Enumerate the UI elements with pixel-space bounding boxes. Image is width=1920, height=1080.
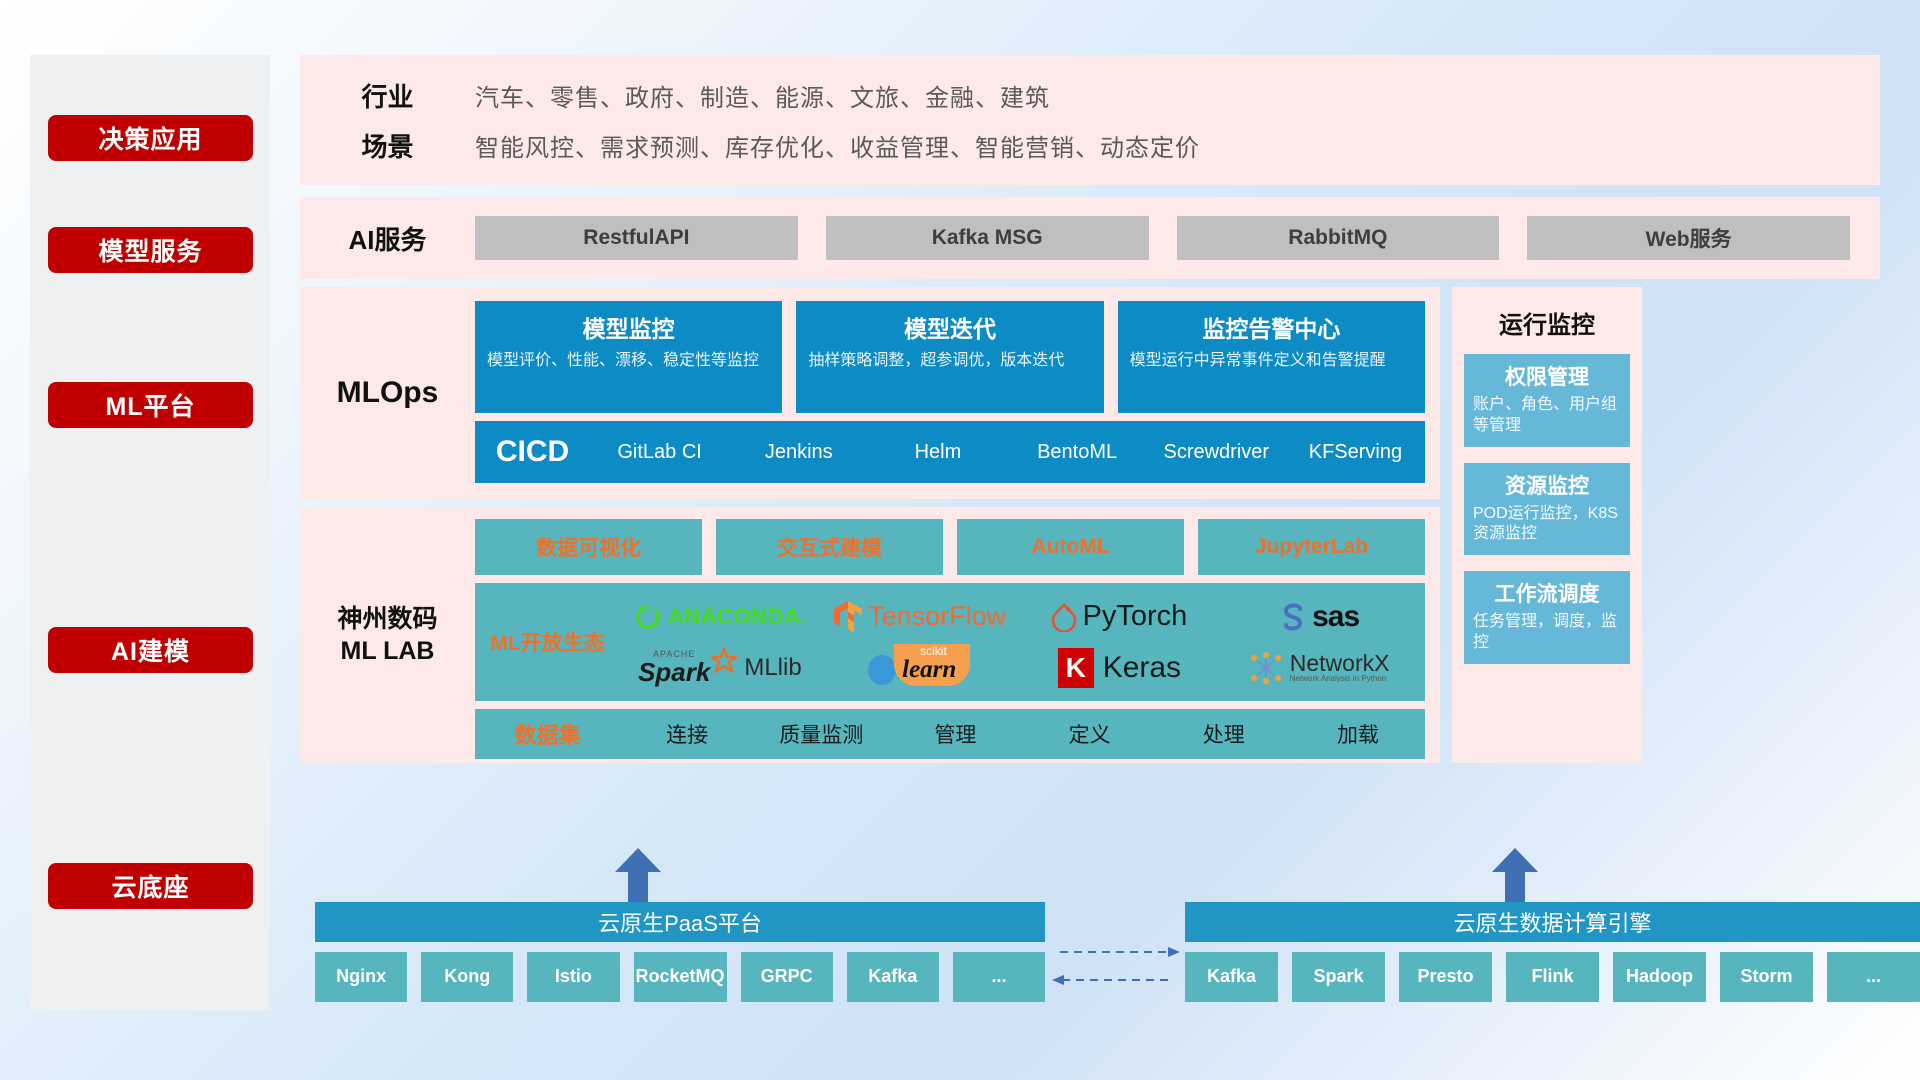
cloud-paas-chip-list: Nginx Kong Istio RocketMQ GRPC Kafka ... bbox=[315, 952, 1045, 1002]
runtime-monitoring-panel: 运行监控 权限管理 账户、角色、用户组等管理 资源监控 POD运行监控，K8S资… bbox=[1452, 287, 1642, 763]
mlops-card-desc: 模型评价、性能、漂移、稳定性等监控 bbox=[487, 350, 770, 372]
ml-lab-tool-interactive-modeling[interactable]: 交互式建模 bbox=[716, 519, 943, 575]
keras-k-letter: K bbox=[1066, 652, 1086, 684]
spark-mllib-logo: APACHE Spark MLlib bbox=[638, 650, 802, 685]
cloud-data-engine-chip-list: Kafka Spark Presto Flink Hadoop Storm ..… bbox=[1185, 952, 1920, 1002]
ml-lab-label-line1: 神州数码 bbox=[337, 603, 437, 636]
scikit-learn-logo: scikit learn bbox=[865, 642, 974, 693]
dataset-label: 数据集 bbox=[475, 718, 620, 750]
rail-chip-cloud-base[interactable]: 云底座 bbox=[48, 863, 253, 909]
bidirectional-dashed-connector-icon bbox=[1052, 942, 1180, 990]
cicd-item-kfserving[interactable]: KFServing bbox=[1286, 442, 1425, 463]
tensorflow-logo: TensorFlow bbox=[833, 600, 1006, 634]
spark-star-icon bbox=[711, 648, 737, 674]
ai-service-band: AI服务 RestfulAPI Kafka MSG RabbitMQ Web服务 bbox=[300, 197, 1880, 279]
dataset-item-quality[interactable]: 质量监测 bbox=[754, 719, 888, 749]
cloud-chip-more-left[interactable]: ... bbox=[953, 952, 1045, 1002]
up-arrow-icon-data-engine bbox=[1492, 848, 1538, 902]
mlops-card-model-monitoring[interactable]: 模型监控 模型评价、性能、漂移、稳定性等监控 bbox=[475, 301, 782, 413]
ops-card-resource-monitoring[interactable]: 资源监控 POD运行监控，K8S资源监控 bbox=[1464, 463, 1630, 556]
ml-open-ecosystem: ML开放生态 ANACONDA. bbox=[475, 583, 1425, 701]
ml-open-ecosystem-logos: ANACONDA. TensorFlow bbox=[620, 591, 1425, 693]
mlops-card-model-iteration[interactable]: 模型迭代 抽样策略调整，超参调优，版本迭代 bbox=[796, 301, 1103, 413]
cloud-paas-header: 云原生PaaS平台 bbox=[315, 902, 1045, 942]
dataset-item-process[interactable]: 处理 bbox=[1157, 719, 1291, 749]
ml-lab-label: 神州数码 ML LAB bbox=[300, 507, 475, 763]
sas-wordmark: sas bbox=[1312, 600, 1359, 634]
scenario-label: 场景 bbox=[300, 127, 475, 164]
tensorflow-wordmark: TensorFlow bbox=[868, 601, 1006, 632]
up-arrow-icon-paas bbox=[615, 848, 661, 902]
mlops-card-title: 模型迭代 bbox=[808, 310, 1091, 344]
ml-lab-tool-automl[interactable]: AutoML bbox=[957, 519, 1184, 575]
ops-card-workflow-scheduling[interactable]: 工作流调度 任务管理，调度，监控 bbox=[1464, 571, 1630, 664]
cloud-chip-spark[interactable]: Spark bbox=[1292, 952, 1385, 1002]
architecture-diagram: 决策应用 模型服务 ML平台 AI建模 云底座 行业 汽车、零售、政府、制造、能… bbox=[0, 0, 1920, 1080]
mlops-card-alert-center[interactable]: 监控告警中心 模型运行中异常事件定义和告警提醒 bbox=[1118, 301, 1425, 413]
mlops-card-title: 监控告警中心 bbox=[1130, 310, 1413, 344]
rail-chip-ml-platform[interactable]: ML平台 bbox=[48, 382, 253, 428]
industry-row: 行业 汽车、零售、政府、制造、能源、文旅、金融、建筑 bbox=[300, 77, 1880, 114]
cicd-item-gitlab-ci[interactable]: GitLab CI bbox=[590, 442, 729, 463]
ops-card-desc: 任务管理，调度，监控 bbox=[1473, 612, 1621, 654]
cicd-item-helm[interactable]: Helm bbox=[868, 442, 1007, 463]
networkx-wordmark: NetworkX bbox=[1290, 651, 1390, 675]
cicd-item-jenkins[interactable]: Jenkins bbox=[729, 442, 868, 463]
pytorch-logo: PyTorch bbox=[1051, 600, 1187, 633]
cloud-chip-flink[interactable]: Flink bbox=[1506, 952, 1599, 1002]
scenario-row: 场景 智能风控、需求预测、库存优化、收益管理、智能营销、动态定价 bbox=[300, 127, 1880, 164]
pytorch-wordmark: PyTorch bbox=[1082, 600, 1187, 633]
cloud-chip-storm[interactable]: Storm bbox=[1720, 952, 1813, 1002]
dataset-item-load[interactable]: 加载 bbox=[1291, 719, 1425, 749]
main-stack: 行业 汽车、零售、政府、制造、能源、文旅、金融、建筑 场景 智能风控、需求预测、… bbox=[300, 55, 1880, 1010]
scenario-values: 智能风控、需求预测、库存优化、收益管理、智能营销、动态定价 bbox=[475, 128, 1200, 163]
cloud-chip-kong[interactable]: Kong bbox=[421, 952, 513, 1002]
cicd-item-bentoml[interactable]: BentoML bbox=[1008, 442, 1147, 463]
ops-card-title: 资源监控 bbox=[1473, 470, 1621, 500]
learn-word: learn bbox=[902, 656, 956, 684]
keras-mark-icon: K bbox=[1058, 648, 1094, 688]
decision-application-band: 行业 汽车、零售、政府、制造、能源、文旅、金融、建筑 场景 智能风控、需求预测、… bbox=[300, 55, 1880, 185]
cicd-item-screwdriver[interactable]: Screwdriver bbox=[1147, 442, 1286, 463]
rail-chip-ai-modeling[interactable]: AI建模 bbox=[48, 627, 253, 673]
cloud-chip-hadoop[interactable]: Hadoop bbox=[1613, 952, 1706, 1002]
ai-service-rabbitmq[interactable]: RabbitMQ bbox=[1177, 216, 1500, 260]
keras-wordmark: Keras bbox=[1103, 651, 1181, 685]
cloud-chip-rocketmq[interactable]: RocketMQ bbox=[634, 952, 727, 1002]
keras-logo: K Keras bbox=[1058, 648, 1181, 688]
networkx-mark-icon bbox=[1249, 652, 1283, 684]
cloud-chip-nginx[interactable]: Nginx bbox=[315, 952, 407, 1002]
mlops-card-desc: 抽样策略调整，超参调优，版本迭代 bbox=[808, 350, 1091, 372]
networkx-tagline: Network Analysis in Python bbox=[1290, 675, 1390, 683]
cloud-chip-kafka-right[interactable]: Kafka bbox=[1185, 952, 1278, 1002]
cloud-chip-kafka[interactable]: Kafka bbox=[847, 952, 939, 1002]
sas-mark-icon bbox=[1279, 602, 1307, 632]
ml-lab-tool-list: 数据可视化 交互式建模 AutoML JupyterLab bbox=[475, 519, 1425, 575]
sas-logo: sas bbox=[1279, 600, 1359, 634]
spark-wordmark: Spark bbox=[638, 659, 710, 685]
ops-card-title: 权限管理 bbox=[1473, 361, 1621, 391]
ml-lab-tool-jupyterlab[interactable]: JupyterLab bbox=[1198, 519, 1425, 575]
rail-chip-model-service[interactable]: 模型服务 bbox=[48, 227, 253, 273]
mlops-band: MLOps 模型监控 模型评价、性能、漂移、稳定性等监控 模型迭代 抽样策略调整… bbox=[300, 287, 1440, 499]
cloud-chip-grpc[interactable]: GRPC bbox=[741, 952, 833, 1002]
anaconda-logo: ANACONDA. bbox=[633, 602, 807, 632]
ops-card-title: 工作流调度 bbox=[1473, 578, 1621, 608]
layer-rail: 决策应用 模型服务 ML平台 AI建模 云底座 bbox=[30, 55, 270, 1010]
cloud-base-section: 云原生PaaS平台 云原生数据计算引擎 Nginx Kong Istio Roc… bbox=[300, 880, 1920, 1010]
industry-label: 行业 bbox=[300, 77, 475, 114]
dataset-bar: 数据集 连接 质量监测 管理 定义 处理 加载 bbox=[475, 709, 1425, 759]
ml-lab-label-line2: ML LAB bbox=[341, 635, 435, 668]
rail-chip-decision-app[interactable]: 决策应用 bbox=[48, 115, 253, 161]
anaconda-wordmark: ANACONDA. bbox=[668, 604, 807, 630]
cicd-bar: CICD GitLab CI Jenkins Helm BentoML Scre… bbox=[475, 421, 1425, 483]
dataset-item-connect[interactable]: 连接 bbox=[620, 719, 754, 749]
cicd-title: CICD bbox=[475, 435, 590, 469]
pytorch-mark-icon bbox=[1051, 602, 1077, 632]
ai-service-web[interactable]: Web服务 bbox=[1527, 216, 1850, 260]
scikit-orange-blob-icon: scikit learn bbox=[890, 642, 974, 693]
dataset-item-manage[interactable]: 管理 bbox=[888, 719, 1022, 749]
cloud-chip-istio[interactable]: Istio bbox=[527, 952, 619, 1002]
runtime-monitoring-title: 运行监控 bbox=[1452, 305, 1642, 340]
industry-values: 汽车、零售、政府、制造、能源、文旅、金融、建筑 bbox=[475, 78, 1050, 113]
cloud-chip-presto[interactable]: Presto bbox=[1399, 952, 1492, 1002]
mlops-label: MLOps bbox=[300, 287, 475, 499]
ops-card-desc: POD运行监控，K8S资源监控 bbox=[1473, 504, 1621, 546]
ai-service-restfulapi[interactable]: RestfulAPI bbox=[475, 216, 798, 260]
mlops-card-desc: 模型运行中异常事件定义和告警提醒 bbox=[1130, 350, 1413, 372]
ops-card-permission-management[interactable]: 权限管理 账户、角色、用户组等管理 bbox=[1464, 354, 1630, 447]
ai-service-label: AI服务 bbox=[300, 220, 475, 257]
mlops-card-title: 模型监控 bbox=[487, 310, 770, 344]
ai-service-kafka-msg[interactable]: Kafka MSG bbox=[826, 216, 1149, 260]
dataset-item-define[interactable]: 定义 bbox=[1023, 719, 1157, 749]
ai-service-list: RestfulAPI Kafka MSG RabbitMQ Web服务 bbox=[475, 216, 1880, 260]
ml-open-ecosystem-label: ML开放生态 bbox=[475, 627, 620, 657]
cloud-data-engine-header: 云原生数据计算引擎 bbox=[1185, 902, 1920, 942]
anaconda-mark-icon bbox=[633, 602, 663, 632]
mllib-wordmark: MLlib bbox=[744, 654, 801, 682]
mlops-card-list: 模型监控 模型评价、性能、漂移、稳定性等监控 模型迭代 抽样策略调整，超参调优，… bbox=[475, 301, 1425, 413]
networkx-logo: NetworkX Network Analysis in Python bbox=[1249, 651, 1390, 684]
tensorflow-mark-icon bbox=[833, 600, 863, 634]
ml-lab-band: 神州数码 ML LAB 数据可视化 交互式建模 AutoML JupyterLa… bbox=[300, 507, 1440, 763]
ops-card-desc: 账户、角色、用户组等管理 bbox=[1473, 395, 1621, 437]
ml-lab-tool-data-visualization[interactable]: 数据可视化 bbox=[475, 519, 702, 575]
cloud-chip-more-right[interactable]: ... bbox=[1827, 952, 1920, 1002]
